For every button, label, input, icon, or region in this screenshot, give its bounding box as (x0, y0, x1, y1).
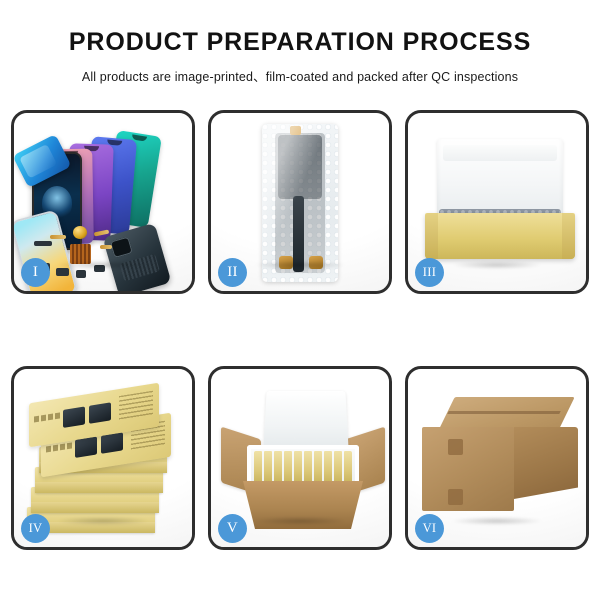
step-badge-4: IV (21, 514, 50, 543)
process-step-panel-5: V (208, 366, 392, 550)
carton-tape-patch-bottom (448, 489, 463, 505)
inner-box (284, 451, 292, 483)
inner-box (274, 451, 282, 483)
drop-shadow (433, 515, 561, 527)
step-badge-5: V (218, 514, 247, 543)
step-badge-3: III (415, 258, 444, 287)
drop-shadow (433, 259, 561, 271)
step-numeral-4: IV (29, 522, 43, 535)
process-step-panel-6: VI (405, 366, 589, 550)
process-step-panel-2: II (208, 110, 392, 294)
inner-box (344, 451, 352, 483)
step-numeral-2: II (227, 265, 238, 280)
inner-box (324, 451, 332, 483)
box-side (35, 482, 163, 493)
box-lip-right (562, 213, 575, 259)
header: PRODUCT PREPARATION PROCESS All products… (0, 0, 600, 85)
box-lip-left (425, 213, 438, 259)
open-inner-box (425, 139, 575, 265)
page-subtitle: All products are image-printed、film-coat… (0, 66, 600, 85)
drop-shadow (39, 515, 167, 527)
step-badge-2: II (218, 258, 247, 287)
flex-chip-1 (34, 241, 52, 246)
step-badge-1: I (21, 258, 50, 287)
process-step-panel-1: I (11, 110, 195, 294)
carton-front-face (422, 427, 514, 511)
open-carton (225, 389, 381, 529)
process-step-panel-4: IV (11, 366, 195, 550)
drop-shadow (236, 515, 364, 527)
box-stack (27, 391, 187, 533)
inner-box (254, 451, 262, 483)
box-spec-lines (119, 391, 153, 422)
carton-tape-patch-top (448, 439, 463, 455)
box-brand-text (34, 412, 62, 422)
flex-cable-1 (50, 235, 66, 239)
yellow-box-tray (425, 213, 575, 259)
carton-top-seam (447, 411, 560, 414)
box-product-thumbnail (89, 402, 111, 423)
top-tab (290, 126, 301, 135)
drop-shadow (236, 259, 364, 271)
product-preparation-infographic: PRODUCT PREPARATION PROCESS All products… (0, 0, 600, 600)
inner-box (304, 451, 312, 483)
process-step-panel-3: III (405, 110, 589, 294)
box-product-thumbnail (101, 432, 123, 453)
carton-side-face (514, 427, 578, 499)
vibration-motor (73, 226, 87, 239)
drop-shadow (39, 259, 167, 271)
box-product-thumbnail (63, 406, 85, 427)
page-title: PRODUCT PREPARATION PROCESS (0, 30, 600, 55)
inner-box (314, 451, 322, 483)
box-side (31, 502, 159, 513)
step-numeral-5: V (227, 521, 238, 536)
box-product-thumbnail (75, 436, 97, 457)
step-numeral-6: VI (423, 522, 437, 535)
step-numeral-3: III (423, 266, 436, 279)
inner-box (334, 451, 342, 483)
step-numeral-1: I (33, 265, 38, 280)
yellow-boxes-inside (254, 451, 352, 483)
styrofoam-lid (263, 391, 348, 452)
wrapped-screen (278, 135, 322, 199)
process-step-grid: I II (11, 110, 589, 550)
sealed-carton (422, 397, 578, 517)
bubble-wrap-bag (262, 124, 338, 282)
inner-box (264, 451, 272, 483)
inner-box (294, 451, 302, 483)
flex-cable-3 (100, 245, 112, 249)
step-badge-6: VI (415, 514, 444, 543)
